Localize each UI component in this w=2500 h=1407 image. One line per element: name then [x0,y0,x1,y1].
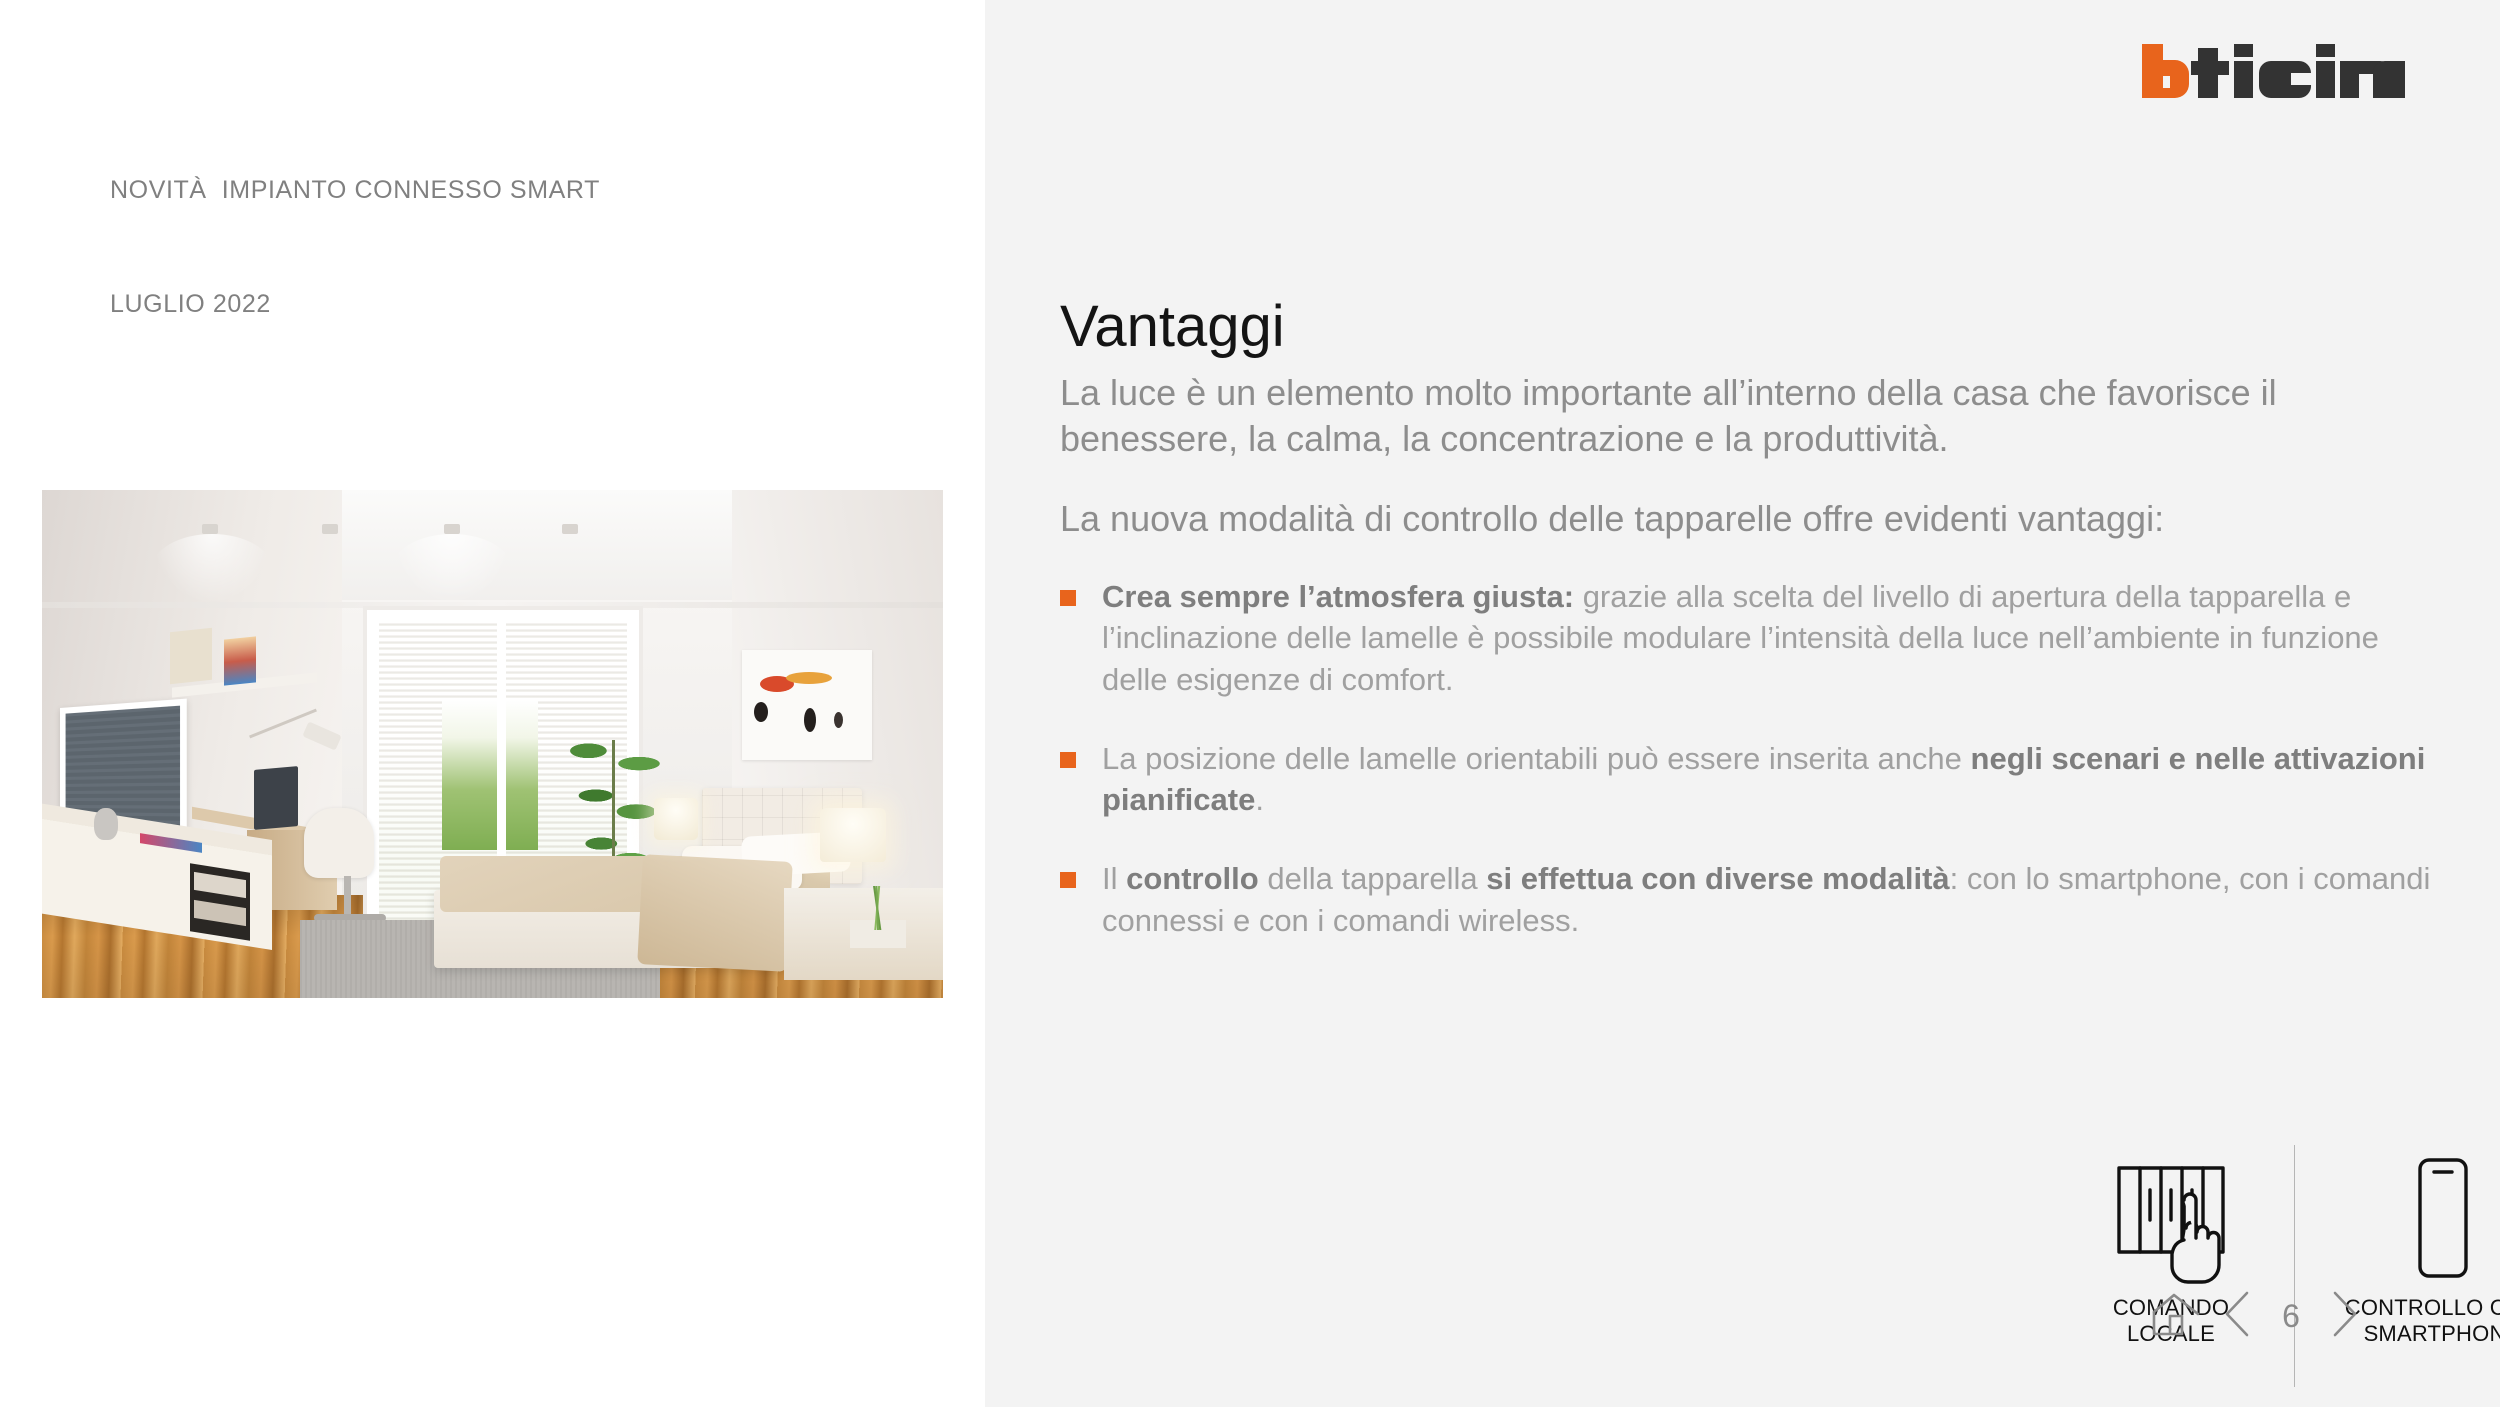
mode-controllo-smartphone: CONTROLLO CON SMARTPHONE [2317,1145,2500,1387]
photo-desk-chair [304,808,374,878]
photo-laptop [254,766,298,830]
photo-cornice [42,602,943,608]
mode-divider [2294,1145,2295,1387]
square-bullet-icon [1060,590,1076,606]
photo-grass-plant [854,886,902,930]
smartphone-icon [2390,1145,2494,1295]
photo-small-picture [224,636,256,685]
intro-paragraph-2: La nuova modalità di controllo delle tap… [1060,496,2445,542]
photo-shelf-box [170,628,212,684]
home-icon [2150,1290,2202,1343]
page-title: Vantaggi [1060,295,2445,360]
slide-navigation: 6 [2145,1285,2375,1347]
photo-spotlight [444,524,460,534]
shutter-hand-icon [2105,1145,2237,1295]
photo-chair-stem [344,876,351,918]
photo-spotlight [202,524,218,534]
slide-content: Vantaggi La luce è un elemento molto imp… [1060,295,2445,979]
photo-wall-art [742,650,872,760]
photo-table-lamp [820,808,886,862]
previous-slide-button[interactable] [2207,1285,2269,1347]
deck-header-line1: NOVITÀ IMPIANTO CONNESSO SMART [110,171,600,209]
next-slide-button[interactable] [2313,1285,2375,1347]
photo-bed-throw [637,854,793,972]
list-item: Crea sempre l’atmosfera giusta: grazie a… [1060,576,2445,700]
deck-header: NOVITÀ IMPIANTO CONNESSO SMART LUGLIO 20… [110,95,600,399]
mode-comando-locale: COMANDO LOCALE [2070,1145,2272,1387]
square-bullet-icon [1060,752,1076,768]
deck-header-line2: LUGLIO 2022 [110,285,600,323]
chevron-right-icon [2327,1289,2361,1344]
photo-spotlight [562,524,578,534]
bullet-atmosfera-text: Crea sempre l’atmosfera giusta: grazie a… [1102,576,2445,700]
photo-light-glow [152,534,272,604]
photo-spotlight [322,524,338,534]
right-panel: Vantaggi La luce è un elemento molto imp… [985,0,2500,1407]
photo-vase [94,808,118,840]
benefits-list: Crea sempre l’atmosfera giusta: grazie a… [1060,576,2445,941]
bullet-modalita-text: Il controllo della tapparella si effettu… [1102,858,2445,940]
list-item: Il controllo della tapparella si effettu… [1060,858,2445,940]
home-button[interactable] [2145,1285,2207,1347]
left-panel: NOVITÀ IMPIANTO CONNESSO SMART LUGLIO 20… [0,0,985,1407]
photo-blinds-open-gap [442,700,538,850]
chevron-left-icon [2221,1289,2255,1344]
list-item: La posizione delle lamelle orientabili p… [1060,738,2445,820]
photo-light-glow [392,534,512,604]
square-bullet-icon [1060,872,1076,888]
intro-paragraph-1: La luce è un elemento molto importante a… [1060,370,2445,462]
bedroom-photo [42,490,943,998]
bullet-scenari-text: La posizione delle lamelle orientabili p… [1102,738,2445,820]
bticino-logo-mark [2140,42,2405,100]
control-modes-row: COMANDO LOCALE CONTROLLO CON SMARTPHONE [2070,1145,2500,1387]
photo-table-lamp [654,798,698,840]
bticino-logo [2140,42,2405,100]
page-number: 6 [2269,1298,2313,1335]
